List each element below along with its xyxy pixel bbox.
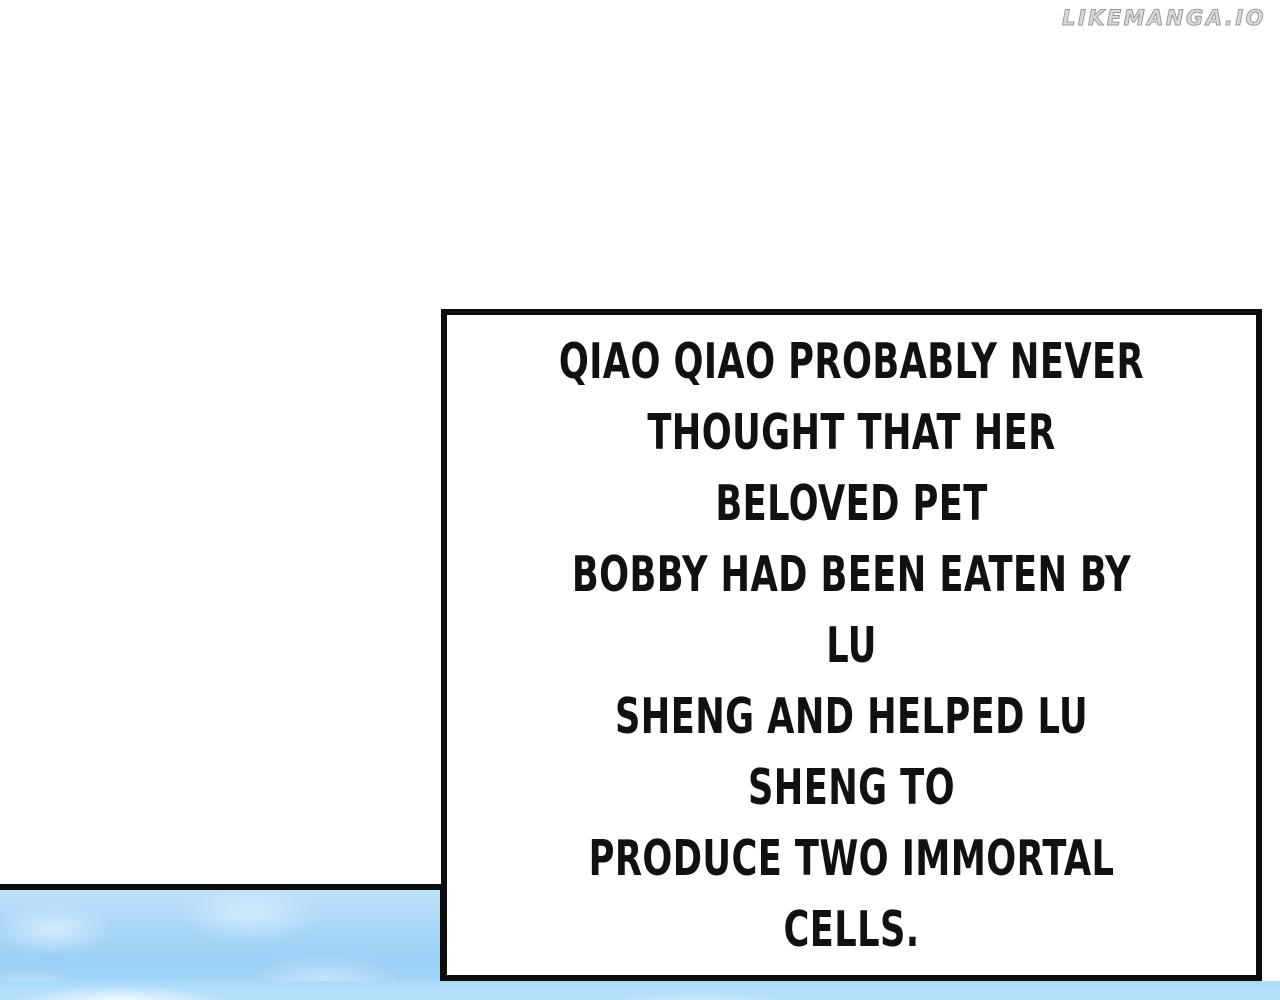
narration-panel: QIAO QIAO PROBABLY NEVER THOUGHT THAT HE… [441, 309, 1262, 981]
sky-strip-bottom [0, 981, 1280, 1000]
manga-page: QIAO QIAO PROBABLY NEVER THOUGHT THAT HE… [0, 0, 1280, 1000]
site-watermark: LIKEMANGA.IO [1062, 6, 1266, 30]
narration-text: QIAO QIAO PROBABLY NEVER THOUGHT THAT HE… [528, 326, 1175, 965]
